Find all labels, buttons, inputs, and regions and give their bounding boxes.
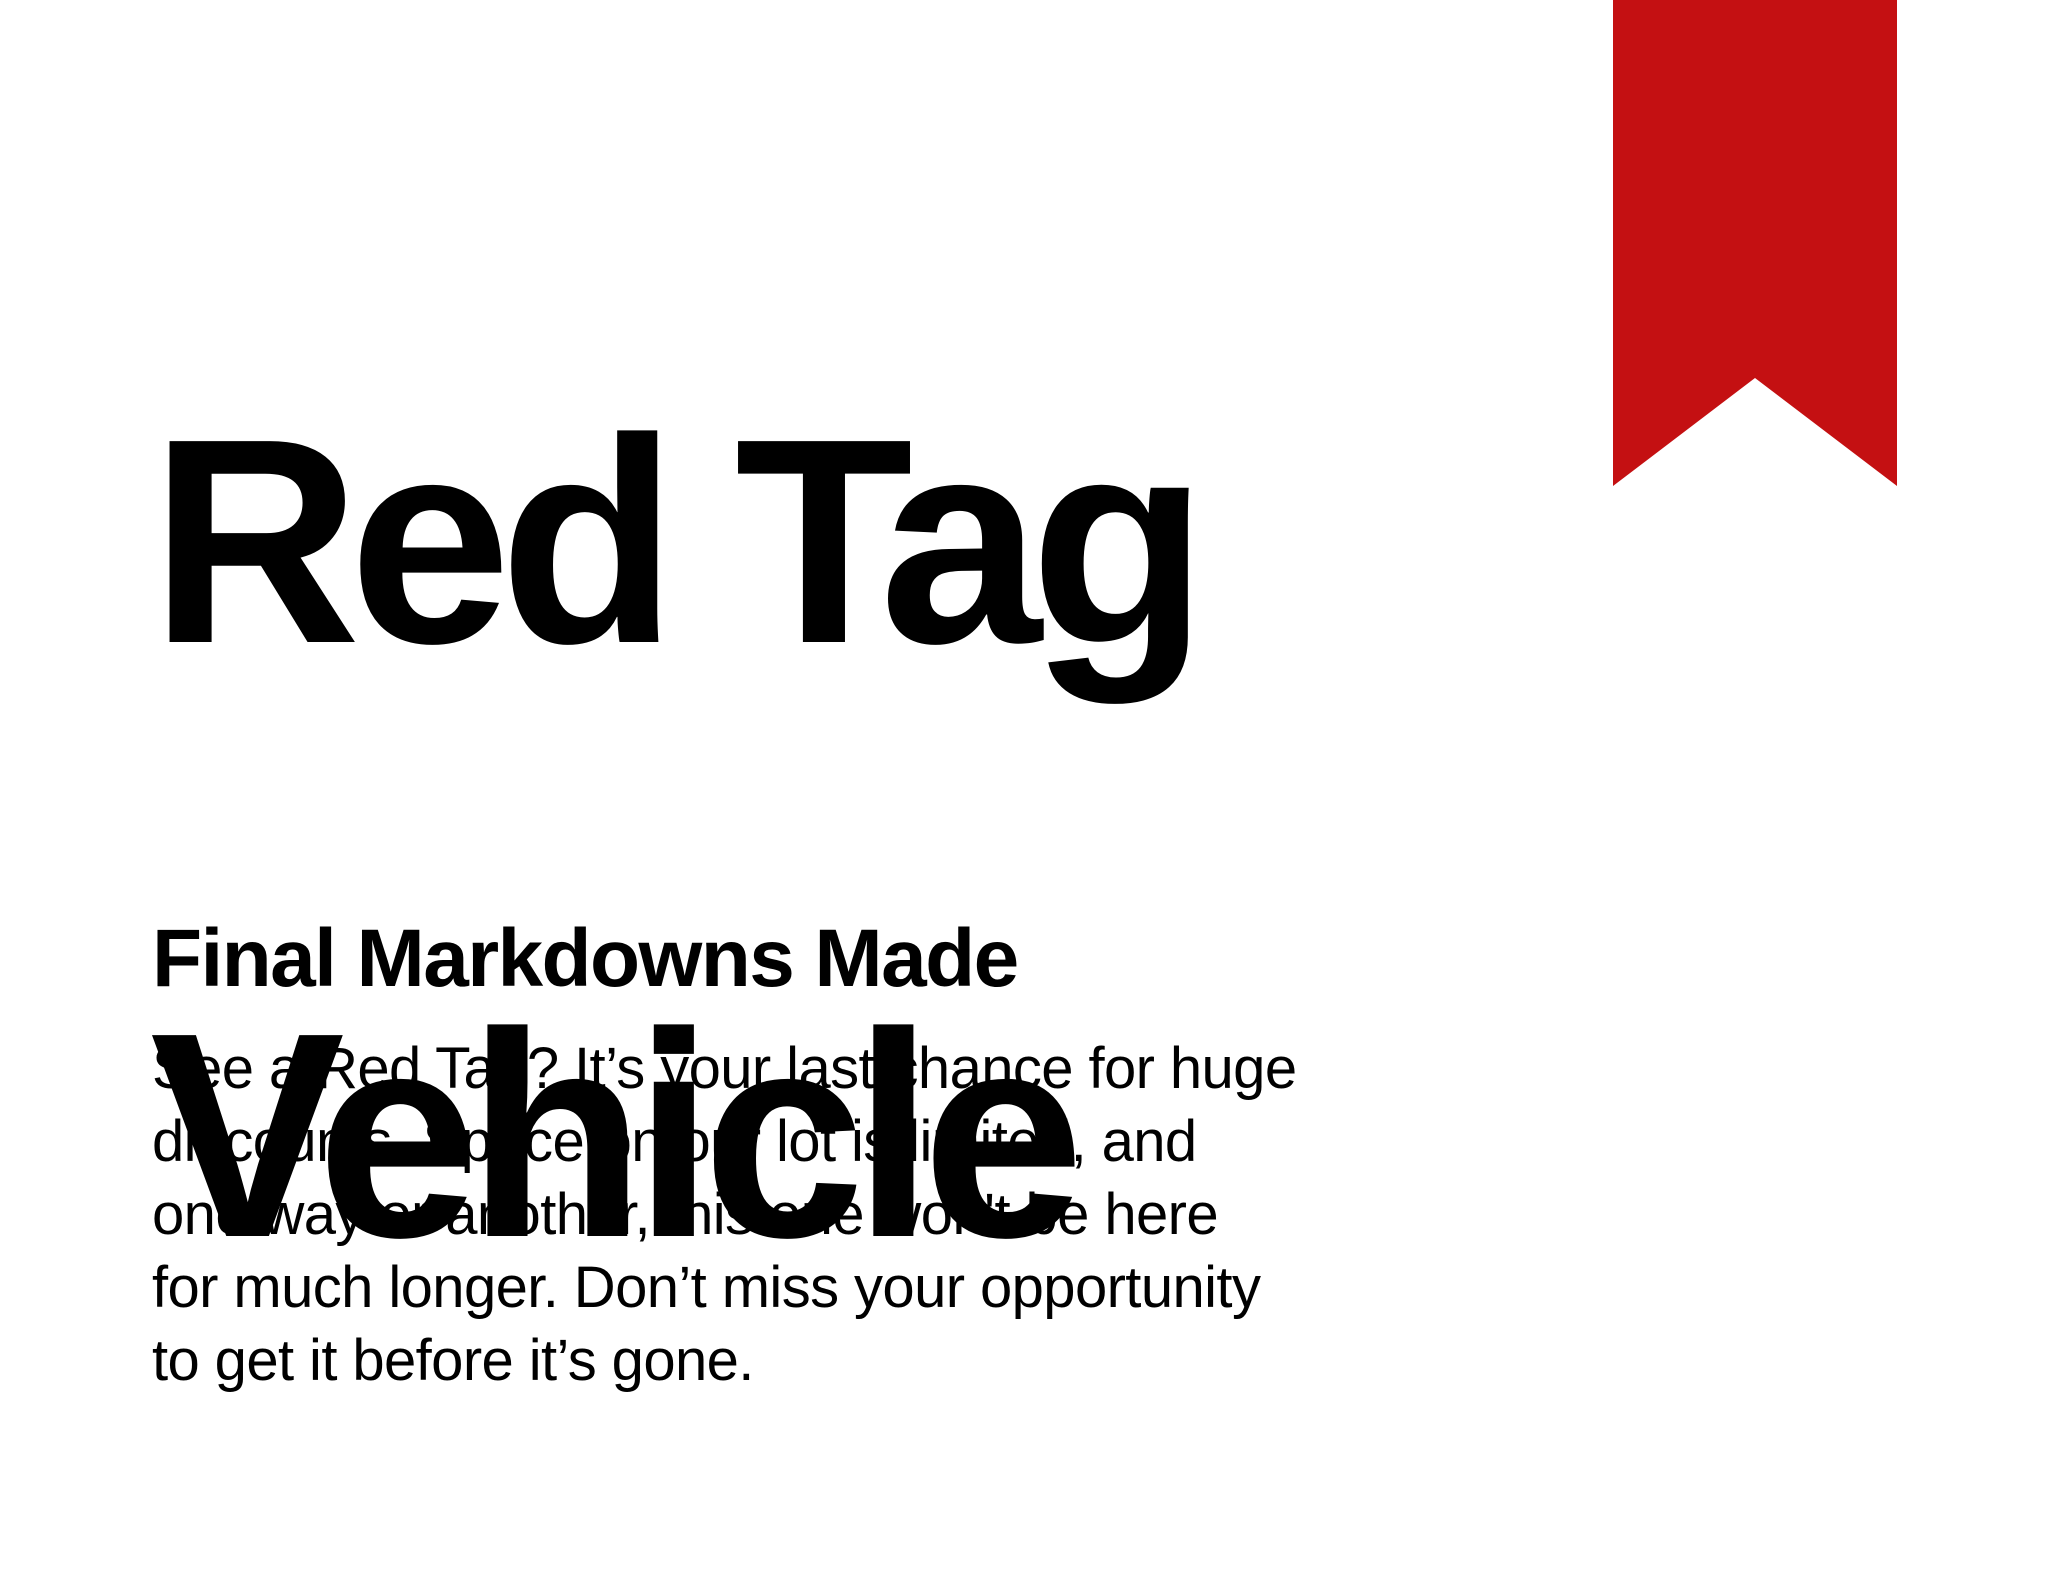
promo-card: Red Tag Vehicle Final Markdowns Made See… [0,0,2048,1536]
body-line-5: to get it before it’s gone. [152,1324,1292,1397]
subheading: Final Markdowns Made [152,912,1018,1006]
body-line-2: discounts. Space on our lot is limited, … [152,1105,1292,1178]
headline-line-1: Red Tag [150,393,1550,690]
ribbon-shape [1613,0,1897,486]
body-line-4: for much longer. Don’t miss your opportu… [152,1251,1292,1324]
body-paragraph: See a Red Tag? It’s your last chance for… [152,1032,1292,1397]
body-line-3: one way or another, this one won't be he… [152,1178,1292,1251]
body-line-1: See a Red Tag? It’s your last chance for… [152,1032,1292,1105]
red-tag-ribbon-icon [1613,0,1897,486]
